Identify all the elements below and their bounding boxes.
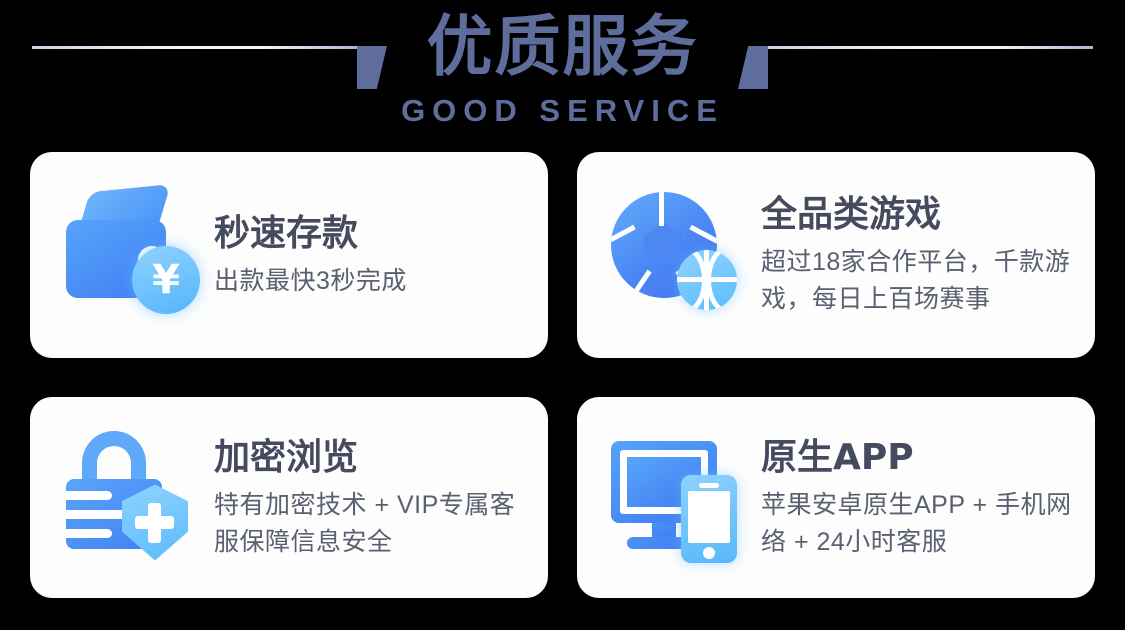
lock-shield-icon bbox=[58, 423, 208, 573]
header: 优质服务 GOOD SERVICE bbox=[0, 0, 1125, 145]
wallet-yen-icon: ¥ bbox=[58, 180, 208, 330]
feature-card-encrypted-browsing[interactable]: 加密浏览 特有加密技术 + VIP专属客服保障信息安全 bbox=[30, 397, 548, 598]
card-description: 超过18家合作平台，千款游戏，每日上百场赛事 bbox=[761, 244, 1081, 318]
page-subtitle: GOOD SERVICE bbox=[0, 92, 1125, 130]
phone-home-button-icon bbox=[703, 547, 715, 559]
feature-card-grid: ¥ 秒速存款 出款最快3秒完成 bbox=[30, 152, 1095, 598]
card-text-block: 全品类游戏 超过18家合作平台，千款游戏，每日上百场赛事 bbox=[755, 192, 1095, 318]
basketball-curve-icon bbox=[677, 250, 707, 310]
card-text-block: 加密浏览 特有加密技术 + VIP专属客服保障信息安全 bbox=[208, 435, 548, 561]
lock-stripe-icon bbox=[66, 529, 112, 538]
feature-card-native-app[interactable]: 原生APP 苹果安卓原生APP + 手机网络 + 24小时客服 bbox=[577, 397, 1095, 598]
card-title: 加密浏览 bbox=[214, 435, 534, 481]
soccer-seam-icon bbox=[611, 225, 636, 245]
promo-banner: 优质服务 GOOD SERVICE ¥ 秒速存款 出款最快3秒完成 bbox=[0, 0, 1125, 630]
soccer-seam-icon bbox=[627, 270, 651, 298]
card-title: 全品类游戏 bbox=[761, 192, 1081, 238]
yen-coin-icon: ¥ bbox=[132, 246, 200, 314]
feature-card-instant-deposit[interactable]: ¥ 秒速存款 出款最快3秒完成 bbox=[30, 152, 548, 358]
yen-symbol: ¥ bbox=[152, 260, 180, 300]
card-text-block: 秒速存款 出款最快3秒完成 bbox=[208, 211, 548, 300]
basketball-icon bbox=[677, 250, 737, 310]
soccer-seam-icon bbox=[689, 225, 717, 245]
plus-icon bbox=[135, 516, 174, 529]
basketball-curve-icon bbox=[706, 250, 737, 310]
page-title: 优质服务 bbox=[0, 8, 1125, 86]
feature-card-all-category-games[interactable]: 全品类游戏 超过18家合作平台，千款游戏，每日上百场赛事 bbox=[577, 152, 1095, 358]
card-description: 特有加密技术 + VIP专属客服保障信息安全 bbox=[214, 487, 534, 561]
card-text-block: 原生APP 苹果安卓原生APP + 手机网络 + 24小时客服 bbox=[755, 435, 1095, 561]
lock-stripe-icon bbox=[66, 491, 112, 500]
soccer-basketball-icon bbox=[605, 180, 755, 330]
card-description: 苹果安卓原生APP + 手机网络 + 24小时客服 bbox=[761, 487, 1081, 561]
card-description: 出款最快3秒完成 bbox=[214, 263, 534, 300]
monitor-phone-icon bbox=[605, 423, 755, 573]
soccer-seam-icon bbox=[659, 192, 664, 226]
phone-speaker-icon bbox=[699, 483, 719, 488]
lock-stripe-icon bbox=[66, 510, 126, 519]
card-title: 秒速存款 bbox=[214, 211, 534, 257]
phone-screen-icon bbox=[688, 491, 730, 543]
card-title: 原生APP bbox=[761, 435, 1081, 481]
